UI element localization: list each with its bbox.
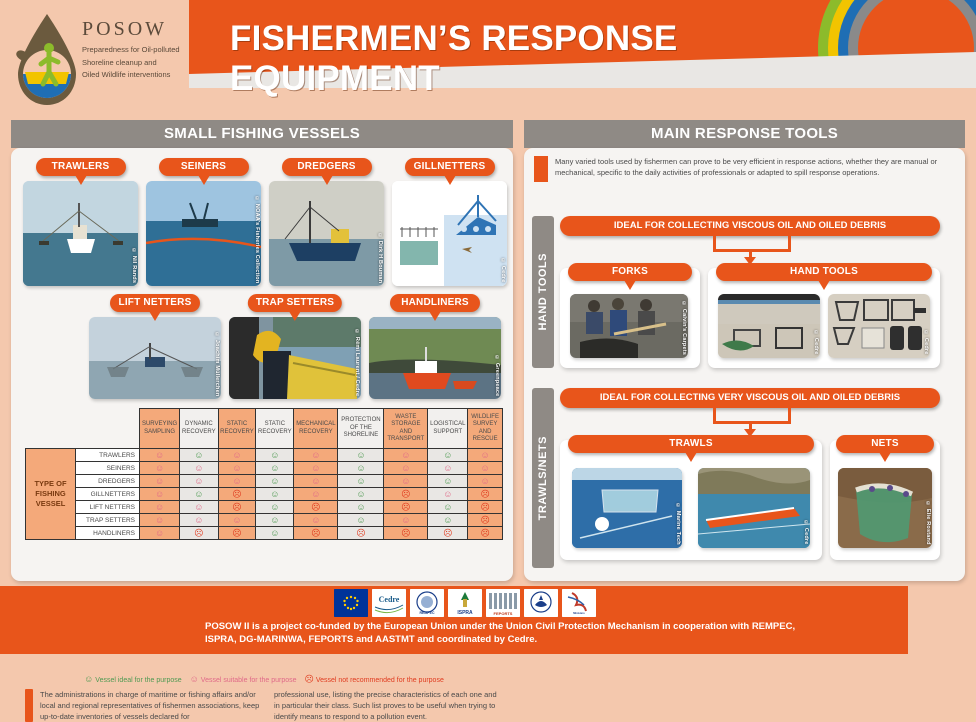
rating-suit-icon: ☺: [194, 477, 203, 486]
matrix-cell: ☺: [428, 475, 468, 488]
rating-suit-icon: ☺: [194, 516, 203, 525]
photo-credit: © Greenpeace: [494, 355, 500, 396]
logo-rempec: REMPEC: [410, 589, 444, 617]
legend-not-recommended-icon: ☹: [304, 675, 313, 684]
rating-suit-icon: ☺: [232, 451, 241, 460]
matrix-row-label: SEINERS: [76, 462, 140, 475]
photo-forks: © Calvin’s Carpets: [570, 294, 688, 358]
matrix-col-0: SURVEYING SAMPLING: [140, 409, 180, 449]
vessel-photo-trawlers: © Nil Rands: [23, 181, 138, 286]
rating-ideal-icon: ☺: [270, 516, 279, 525]
group-label-trawls: TRAWLS: [568, 435, 814, 453]
right-panel-heading: MAIN RESPONSE TOOLS: [524, 120, 965, 148]
legend-suitable-label: Vessel suitable for the purpose: [201, 677, 297, 684]
matrix-col-2: STATIC RECOVERY: [218, 409, 256, 449]
photo-credit: © NOAA’s Fisheries Collection: [254, 196, 260, 283]
footer-text: POSOW II is a project co-funded by the E…: [205, 620, 905, 646]
matrix-cell: ☺: [338, 475, 384, 488]
photo-credit: © Cedre: [813, 330, 819, 355]
matrix-cell: ☺: [294, 475, 338, 488]
page-title: FISHERMEN’S RESPONSE EQUIPMENT: [230, 19, 850, 99]
matrix-cell: ☹: [468, 514, 503, 527]
matrix-cell: ☹: [468, 501, 503, 514]
photo-hand-tools-2: © Cedre: [828, 294, 930, 358]
logo-feports: FEPORTS: [486, 589, 520, 617]
matrix-cell: ☺: [256, 514, 294, 527]
matrix-header-row: SURVEYING SAMPLING DYNAMIC RECOVERY STAT…: [26, 409, 503, 449]
matrix-cell: ☺: [294, 514, 338, 527]
legend-suitable-icon: ☺: [190, 675, 199, 684]
rating-no-icon: ☹: [311, 529, 320, 538]
rating-ideal-icon: ☺: [356, 490, 365, 499]
photo-credit: © Elie Rostand: [925, 501, 931, 545]
matrix-cell: ☺: [294, 462, 338, 475]
matrix-cell: ☺: [338, 462, 384, 475]
matrix-cell: ☺: [384, 462, 428, 475]
rating-ideal-icon: ☺: [194, 451, 203, 460]
photo-hand-tools-1: © Cedre: [718, 294, 820, 358]
rating-ideal-icon: ☺: [270, 529, 279, 538]
vessel-label-seiners: SEINERS: [159, 158, 249, 176]
photo-credit: © Cedre: [923, 330, 929, 355]
svg-text:FEPORTS: FEPORTS: [494, 611, 513, 616]
footer-line-1: POSOW II is a project co-funded by the E…: [205, 620, 905, 633]
vessel-suitability-matrix: SURVEYING SAMPLING DYNAMIC RECOVERY STAT…: [25, 408, 503, 540]
matrix-cell: ☺: [218, 475, 256, 488]
footer-line-2: ISPRA, DG-MARINWA, FEPORTS and AASTMT an…: [205, 633, 905, 646]
rating-ideal-icon: ☺: [270, 464, 279, 473]
matrix-cell: ☹: [384, 501, 428, 514]
matrix-row-label: DREDGERS: [76, 475, 140, 488]
matrix-cell: ☺: [140, 501, 180, 514]
group-trawls[interactable]: TRAWLS © Marine Tech: [560, 440, 822, 560]
intro-accent-bar: [534, 156, 548, 182]
section-side-label-trawls-nets: TRAWLS/NETS: [532, 388, 554, 568]
group-forks[interactable]: FORKS © Calvin’s Carpets: [560, 268, 700, 368]
matrix-cell: ☺: [218, 462, 256, 475]
matrix-col-3: STATIC RECOVERY: [256, 409, 294, 449]
photo-credit: © Dirk H Bouman: [377, 233, 383, 283]
matrix-row: TRAP SETTERS☺☺☺☺☺☺☺☺☹: [26, 514, 503, 527]
rating-no-icon: ☹: [480, 516, 489, 525]
matrix-cell: ☹: [218, 501, 256, 514]
rating-ideal-icon: ☺: [356, 516, 365, 525]
legend-ideal-icon: ☺: [84, 675, 93, 684]
matrix-cell: ☺: [140, 488, 180, 501]
group-label-hand-tools: HAND TOOLS: [716, 263, 932, 281]
matrix-cell: ☺: [256, 527, 294, 540]
matrix-row: SEINERS☺☺☺☺☺☺☺☺☺: [26, 462, 503, 475]
rating-suit-icon: ☺: [401, 451, 410, 460]
vessel-photo-trap-setters: © Rémi Laurent / Cedre: [229, 317, 361, 399]
group-label-forks: FORKS: [568, 263, 692, 281]
main-response-tools-panel: MAIN RESPONSE TOOLS Many varied tools us…: [524, 120, 965, 581]
rating-suit-icon: ☺: [155, 516, 164, 525]
note-accent-bar: [25, 689, 33, 722]
matrix-cell: ☺: [256, 462, 294, 475]
matrix-cell: ☹: [338, 527, 384, 540]
right-panel-body: Many varied tools used by fishermen can …: [524, 148, 965, 581]
matrix-cell: ☺: [180, 475, 218, 488]
rating-suit-icon: ☺: [401, 516, 410, 525]
matrix-row: LIFT NETTERS☺☺☹☺☹☺☹☺☹: [26, 501, 503, 514]
rating-ideal-icon: ☺: [356, 477, 365, 486]
matrix-cell: ☺: [338, 501, 384, 514]
matrix-cell: ☺: [180, 501, 218, 514]
matrix-table: SURVEYING SAMPLING DYNAMIC RECOVERY STAT…: [25, 408, 503, 540]
logo-cedre: Cedre: [372, 589, 406, 617]
logo-tagline-3: Oiled Wildlife interventions: [82, 69, 190, 82]
left-panel-heading: SMALL FISHING VESSELS: [11, 120, 513, 148]
rating-suit-icon: ☺: [311, 490, 320, 499]
rating-suit-icon: ☺: [481, 464, 490, 473]
rating-no-icon: ☹: [401, 529, 410, 538]
matrix-cell: ☺: [140, 449, 180, 462]
logo-tagline-2: Shoreline cleanup and: [82, 57, 190, 70]
vessel-label-gillnetters: GILLNETTERS: [405, 158, 495, 176]
logo-aastmt: [524, 589, 558, 617]
matrix-cell: ☺: [428, 501, 468, 514]
svg-text:ISPRA: ISPRA: [457, 610, 473, 616]
page-footer: Cedre REMPEC ISPRA FEPORTS: [0, 586, 908, 654]
group-nets[interactable]: NETS © Elie Rostand: [830, 440, 940, 560]
matrix-cell: ☹: [384, 488, 428, 501]
matrix-cell: ☺: [384, 475, 428, 488]
logo-wordmark: POSOW: [82, 18, 190, 41]
matrix-row-label: HANDLINERS: [76, 527, 140, 540]
rating-no-icon: ☹: [232, 490, 241, 499]
matrix-col-5: PROTECTION OF THE SHORELINE: [338, 409, 384, 449]
rating-suit-icon: ☺: [443, 490, 452, 499]
matrix-corner: [26, 409, 140, 449]
posow-logo: POSOW Preparedness for Oil-polluted Shor…: [14, 10, 186, 110]
matrix-cell: ☺: [218, 514, 256, 527]
rating-no-icon: ☹: [232, 529, 241, 538]
matrix-cell: ☹: [294, 501, 338, 514]
matrix-row-label: TRAWLERS: [76, 449, 140, 462]
rating-no-icon: ☹: [480, 490, 489, 499]
rating-ideal-icon: ☺: [270, 503, 279, 512]
vessel-label-handliners: HANDLINERS: [390, 294, 480, 312]
rating-suit-icon: ☺: [155, 451, 164, 460]
section-side-label-hand-tools: HAND TOOLS: [532, 216, 554, 368]
rating-no-icon: ☹: [480, 503, 489, 512]
matrix-row: DREDGERS☺☺☺☺☺☺☺☺☺: [26, 475, 503, 488]
rating-suit-icon: ☺: [155, 477, 164, 486]
matrix-cell: ☺: [140, 514, 180, 527]
matrix-legend: ☺ Vessel ideal for the purpose ☺ Vessel …: [25, 675, 503, 684]
small-fishing-vessels-panel: SMALL FISHING VESSELS TRAWLERS: [11, 120, 513, 581]
photo-trawls-2: © Cedre: [698, 468, 810, 548]
matrix-cell: ☺: [338, 449, 384, 462]
vessel-gillnetters[interactable]: GILLNETTERS © Cedre: [392, 158, 507, 286]
matrix-col-4: MECHANICAL RECOVERY: [294, 409, 338, 449]
page-header: FISHERMEN’S RESPONSE EQUIPMENT POSOW Pre…: [0, 0, 976, 118]
rating-ideal-icon: ☺: [194, 490, 203, 499]
vessel-seiners[interactable]: SEINERS © NOAA’s Fisheries Collection: [146, 158, 261, 286]
photo-credit: © Joachim Müllerchen: [214, 332, 220, 396]
matrix-cell: ☺: [468, 475, 503, 488]
rating-ideal-icon: ☺: [443, 503, 452, 512]
matrix-cell: ☺: [256, 488, 294, 501]
matrix-cell: ☺: [294, 449, 338, 462]
matrix-type-label: TYPE OF FISHING VESSEL: [26, 449, 76, 540]
rating-ideal-icon: ☺: [270, 490, 279, 499]
rating-ideal-icon: ☺: [270, 477, 279, 486]
matrix-row: TYPE OF FISHING VESSELTRAWLERS☺☺☺☺☺☺☺☺☺: [26, 449, 503, 462]
matrix-cell: ☺: [428, 449, 468, 462]
banner-viscous-oil: IDEAL FOR COLLECTING VISCOUS OIL AND OIL…: [560, 216, 940, 236]
rating-suit-icon: ☺: [311, 451, 320, 460]
matrix-col-8: WILDLIFE SURVEY AND RESCUE: [468, 409, 503, 449]
banner-very-viscous-oil: IDEAL FOR COLLECTING VERY VISCOUS OIL AN…: [560, 388, 940, 408]
matrix-cell: ☺: [218, 449, 256, 462]
svg-text:Ministero: Ministero: [573, 611, 585, 615]
vessel-row-1: TRAWLERS © Nil Rands: [23, 158, 501, 286]
vessel-label-dredgers: DREDGERS: [282, 158, 372, 176]
rating-suit-icon: ☺: [232, 516, 241, 525]
rating-suit-icon: ☺: [232, 464, 241, 473]
photo-trawls-1: © Marine Tech: [572, 468, 682, 548]
vessel-label-lift-netters: LIFT NETTERS: [110, 294, 200, 312]
matrix-col-1: DYNAMIC RECOVERY: [180, 409, 218, 449]
matrix-col-6: WASTE STORAGE AND TRANSPORT: [384, 409, 428, 449]
photo-credit: © Cedre: [500, 258, 506, 283]
vessel-label-trap-setters: TRAP SETTERS: [248, 294, 342, 312]
rating-suit-icon: ☺: [194, 503, 203, 512]
vessel-photo-seiners: © NOAA’s Fisheries Collection: [146, 181, 261, 286]
note-column-2: professional use, listing the precise ch…: [274, 689, 498, 722]
photo-credit: © Calvin’s Carpets: [681, 301, 687, 355]
rating-ideal-icon: ☺: [356, 503, 365, 512]
legend-not-recommended-label: Vessel not recommended for the purpose: [316, 677, 444, 684]
matrix-cell: ☺: [140, 527, 180, 540]
matrix-cell: ☺: [428, 462, 468, 475]
rating-no-icon: ☹: [311, 503, 320, 512]
rating-no-icon: ☹: [443, 529, 452, 538]
logo-tagline-1: Preparedness for Oil-polluted: [82, 44, 190, 57]
rating-ideal-icon: ☺: [270, 451, 279, 460]
matrix-cell: ☺: [468, 462, 503, 475]
matrix-cell: ☺: [256, 475, 294, 488]
rating-ideal-icon: ☺: [443, 477, 452, 486]
left-panel-body: TRAWLERS © Nil Rands: [11, 148, 513, 581]
rating-suit-icon: ☺: [194, 464, 203, 473]
matrix-cell: ☹: [428, 527, 468, 540]
rating-suit-icon: ☺: [481, 477, 490, 486]
photo-credit: © Marine Tech: [675, 503, 681, 545]
svg-text:Cedre: Cedre: [379, 595, 400, 604]
matrix-row: HANDLINERS☺☹☹☺☹☹☹☹☹: [26, 527, 503, 540]
matrix-cell: ☺: [468, 449, 503, 462]
tools-intro: Many varied tools used by fishermen can …: [534, 156, 954, 182]
photo-credit: © Nil Rands: [131, 248, 137, 283]
rating-no-icon: ☹: [232, 503, 241, 512]
matrix-col-7: LOGISTICAL SUPPORT: [428, 409, 468, 449]
vessel-photo-dredgers: © Dirk H Bouman: [269, 181, 384, 286]
svg-text:REMPEC: REMPEC: [420, 611, 435, 615]
rating-suit-icon: ☺: [155, 529, 164, 538]
matrix-cell: ☹: [294, 527, 338, 540]
rating-suit-icon: ☺: [311, 464, 320, 473]
rating-suit-icon: ☺: [443, 464, 452, 473]
group-label-nets: NETS: [836, 435, 934, 453]
matrix-cell: ☹: [468, 488, 503, 501]
rating-suit-icon: ☺: [311, 477, 320, 486]
matrix-cell: ☺: [180, 462, 218, 475]
rating-no-icon: ☹: [401, 490, 410, 499]
logo-eu: [334, 589, 368, 617]
rating-suit-icon: ☺: [401, 477, 410, 486]
photo-credit: © Cedre: [803, 520, 809, 545]
matrix-cell: ☺: [180, 488, 218, 501]
rating-ideal-icon: ☺: [356, 451, 365, 460]
posow-droplet-icon: [16, 12, 78, 108]
matrix-row-label: GILLNETTERS: [76, 488, 140, 501]
rating-suit-icon: ☺: [155, 490, 164, 499]
rating-suit-icon: ☺: [311, 516, 320, 525]
matrix-cell: ☺: [428, 514, 468, 527]
legend-ideal-label: Vessel ideal for the purpose: [95, 677, 181, 684]
matrix-cell: ☹: [468, 527, 503, 540]
rating-no-icon: ☹: [480, 529, 489, 538]
photo-nets: © Elie Rostand: [838, 468, 932, 548]
rating-suit-icon: ☺: [232, 477, 241, 486]
matrix-row-label: TRAP SETTERS: [76, 514, 140, 527]
vessel-photo-handliners: © Greenpeace: [369, 317, 501, 399]
vessel-lift-netters[interactable]: LIFT NETTERS © Joachim Müllerchen: [89, 294, 221, 399]
rating-suit-icon: ☺: [481, 451, 490, 460]
partner-logos: Cedre REMPEC ISPRA FEPORTS: [334, 589, 596, 617]
matrix-cell: ☺: [256, 449, 294, 462]
matrix-cell: ☹: [218, 488, 256, 501]
matrix-cell: ☺: [294, 488, 338, 501]
note-column-1: The administrations in charge of maritim…: [40, 689, 264, 722]
rating-no-icon: ☹: [401, 503, 410, 512]
vessel-label-trawlers: TRAWLERS: [36, 158, 126, 176]
intro-text: Many varied tools used by fishermen can …: [555, 156, 954, 182]
matrix-cell: ☺: [428, 488, 468, 501]
matrix-cell: ☺: [384, 514, 428, 527]
rating-ideal-icon: ☺: [356, 464, 365, 473]
matrix-row-label: LIFT NETTERS: [76, 501, 140, 514]
matrix-cell: ☺: [338, 488, 384, 501]
matrix-cell: ☹: [384, 527, 428, 540]
rating-suit-icon: ☺: [401, 464, 410, 473]
matrix-row: GILLNETTERS☺☺☹☺☺☺☹☺☹: [26, 488, 503, 501]
matrix-cell: ☺: [256, 501, 294, 514]
logo-italy: Ministero: [562, 589, 596, 617]
rating-ideal-icon: ☺: [443, 451, 452, 460]
rating-no-icon: ☹: [356, 529, 365, 538]
matrix-cell: ☺: [180, 514, 218, 527]
vessel-trap-setters[interactable]: TRAP SETTERS © Rémi Laurent / Cedre: [229, 294, 361, 399]
matrix-cell: ☺: [140, 462, 180, 475]
rating-no-icon: ☹: [194, 529, 203, 538]
matrix-cell: ☺: [140, 475, 180, 488]
vessel-row-2: LIFT NETTERS © Joachim Müllerchen TRA: [89, 294, 501, 399]
matrix-cell: ☺: [180, 449, 218, 462]
vessel-photo-gillnetters: © Cedre: [392, 181, 507, 286]
rating-suit-icon: ☺: [155, 464, 164, 473]
matrix-cell: ☹: [180, 527, 218, 540]
rating-ideal-icon: ☺: [443, 516, 452, 525]
logo-ispra: ISPRA: [448, 589, 482, 617]
vessel-handliners[interactable]: HANDLINERS © Greenpeace: [369, 294, 501, 399]
matrix-cell: ☺: [338, 514, 384, 527]
group-hand-tools[interactable]: HAND TOOLS © Cedre: [708, 268, 940, 368]
vessel-dredgers[interactable]: DREDGERS © Dirk H Bouman: [269, 158, 384, 286]
vessel-photo-lift-netters: © Joachim Müllerchen: [89, 317, 221, 399]
vessel-trawlers[interactable]: TRAWLERS © Nil Rands: [23, 158, 138, 286]
matrix-cell: ☹: [218, 527, 256, 540]
administration-note: The administrations in charge of maritim…: [25, 689, 503, 722]
matrix-cell: ☺: [384, 449, 428, 462]
photo-credit: © Rémi Laurent / Cedre: [354, 329, 360, 396]
rating-suit-icon: ☺: [155, 503, 164, 512]
